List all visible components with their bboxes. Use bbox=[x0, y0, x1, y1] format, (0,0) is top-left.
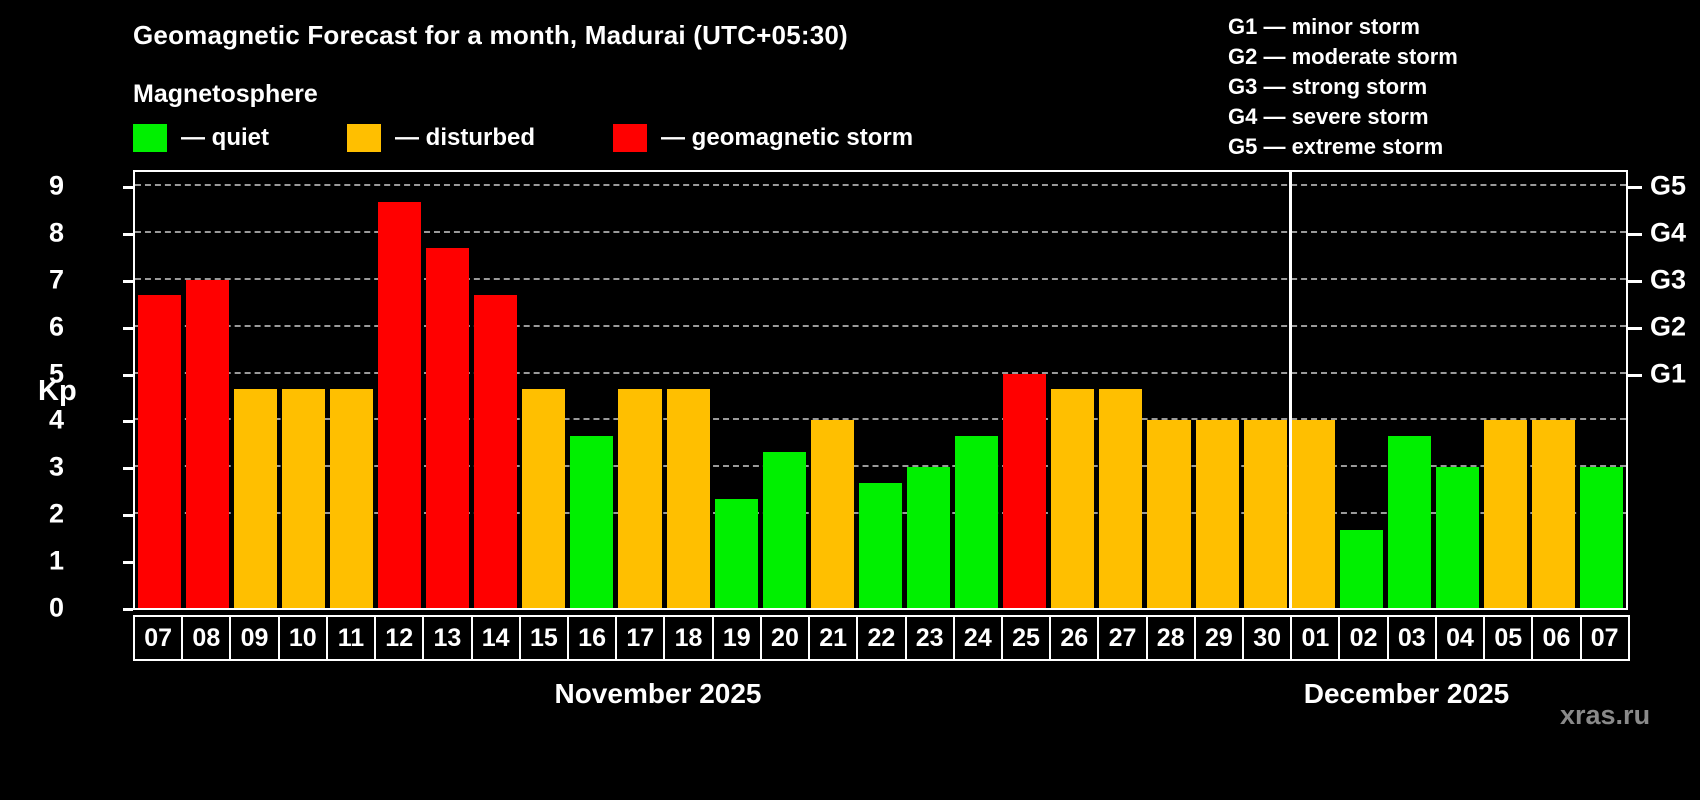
bar[interactable] bbox=[378, 202, 421, 608]
y-tick-mark-1 bbox=[123, 561, 133, 564]
y-tick-3: 3 bbox=[24, 452, 64, 483]
bar-cell-08[interactable] bbox=[183, 172, 231, 608]
bar-cell-22[interactable] bbox=[856, 172, 904, 608]
day-label-text: 18 bbox=[675, 624, 703, 653]
bar[interactable] bbox=[1051, 389, 1094, 608]
y-tick-mark-4 bbox=[123, 420, 133, 423]
watermark: xras.ru bbox=[1560, 700, 1650, 731]
y-tick-6: 6 bbox=[24, 311, 64, 342]
day-label-12[interactable]: 12 bbox=[374, 615, 424, 661]
day-label-26[interactable]: 26 bbox=[1049, 615, 1099, 661]
day-label-text: 14 bbox=[482, 624, 510, 653]
bar[interactable] bbox=[522, 389, 565, 608]
day-label-text: 06 bbox=[1543, 624, 1571, 653]
bar[interactable] bbox=[907, 467, 950, 608]
g-tick-G2: G2 bbox=[1650, 311, 1686, 342]
bar-cell-30[interactable] bbox=[1241, 172, 1289, 608]
day-label-07[interactable]: 07 bbox=[133, 615, 183, 661]
day-labels-row: 0708091011121314151617181920212223242526… bbox=[133, 615, 1628, 661]
bar[interactable] bbox=[811, 420, 854, 608]
legend-swatch-disturbed bbox=[347, 124, 381, 152]
y-tick-5: 5 bbox=[24, 358, 64, 389]
bar[interactable] bbox=[330, 389, 373, 608]
day-label-07[interactable]: 07 bbox=[1580, 615, 1630, 661]
day-label-16[interactable]: 16 bbox=[567, 615, 617, 661]
g-legend-row-4: G4 — severe storm bbox=[1228, 102, 1458, 132]
y-tick-mark-5 bbox=[123, 374, 133, 377]
day-label-text: 03 bbox=[1398, 624, 1426, 653]
page-title: Geomagnetic Forecast for a month, Madura… bbox=[133, 20, 848, 51]
bar[interactable] bbox=[955, 436, 998, 608]
bar-cell-25[interactable] bbox=[1001, 172, 1049, 608]
g-tick-mark-G3 bbox=[1628, 280, 1642, 283]
day-label-11[interactable]: 11 bbox=[326, 615, 376, 661]
bar-cell-24[interactable] bbox=[953, 172, 1001, 608]
day-label-text: 21 bbox=[819, 624, 847, 653]
y-tick-7: 7 bbox=[24, 264, 64, 295]
y-tick-8: 8 bbox=[24, 217, 64, 248]
day-label-text: 10 bbox=[289, 624, 317, 653]
g-tick-mark-G2 bbox=[1628, 327, 1642, 330]
bar[interactable] bbox=[1244, 420, 1287, 608]
bar-cell-03[interactable] bbox=[1385, 172, 1433, 608]
day-label-text: 29 bbox=[1205, 624, 1233, 653]
bar-cell-06[interactable] bbox=[1530, 172, 1578, 608]
g-tick-mark-G4 bbox=[1628, 233, 1642, 236]
day-label-20[interactable]: 20 bbox=[760, 615, 810, 661]
legend-label-quiet: — quiet bbox=[181, 124, 269, 152]
bar-cell-05[interactable] bbox=[1482, 172, 1530, 608]
bar[interactable] bbox=[474, 295, 517, 608]
chart-plot-area bbox=[133, 170, 1628, 610]
day-label-text: 05 bbox=[1494, 624, 1522, 653]
day-label-text: 23 bbox=[916, 624, 944, 653]
bar[interactable] bbox=[138, 295, 181, 608]
bar[interactable] bbox=[1532, 420, 1575, 608]
day-label-09[interactable]: 09 bbox=[229, 615, 279, 661]
day-label-text: 12 bbox=[385, 624, 413, 653]
day-label-29[interactable]: 29 bbox=[1194, 615, 1244, 661]
day-label-17[interactable]: 17 bbox=[615, 615, 665, 661]
bar[interactable] bbox=[186, 280, 229, 608]
bar[interactable] bbox=[763, 452, 806, 608]
bar-cell-13[interactable] bbox=[424, 172, 472, 608]
bar[interactable] bbox=[282, 389, 325, 608]
bar-cell-02[interactable] bbox=[1337, 172, 1385, 608]
day-label-24[interactable]: 24 bbox=[953, 615, 1003, 661]
day-label-27[interactable]: 27 bbox=[1097, 615, 1147, 661]
bar-cell-23[interactable] bbox=[905, 172, 953, 608]
day-label-21[interactable]: 21 bbox=[808, 615, 858, 661]
legend-item-disturbed: — disturbed bbox=[347, 124, 535, 152]
bar[interactable] bbox=[1388, 436, 1431, 608]
bar[interactable] bbox=[1484, 420, 1527, 608]
y-tick-mark-3 bbox=[123, 467, 133, 470]
day-label-text: 30 bbox=[1253, 624, 1281, 653]
y-tick-mark-8 bbox=[123, 233, 133, 236]
bar-cell-11[interactable] bbox=[327, 172, 375, 608]
day-label-01[interactable]: 01 bbox=[1290, 615, 1340, 661]
bar[interactable] bbox=[1003, 374, 1046, 608]
bar[interactable] bbox=[1340, 530, 1383, 608]
bar-cell-28[interactable] bbox=[1145, 172, 1193, 608]
day-label-22[interactable]: 22 bbox=[856, 615, 906, 661]
bar-cell-10[interactable] bbox=[279, 172, 327, 608]
bar[interactable] bbox=[1292, 420, 1335, 608]
bar[interactable] bbox=[1099, 389, 1142, 608]
y-tick-mark-6 bbox=[123, 327, 133, 330]
bar-cell-07[interactable] bbox=[135, 172, 183, 608]
bar-cell-21[interactable] bbox=[808, 172, 856, 608]
bar-cell-12[interactable] bbox=[375, 172, 423, 608]
day-label-10[interactable]: 10 bbox=[278, 615, 328, 661]
day-label-15[interactable]: 15 bbox=[519, 615, 569, 661]
bar-cell-15[interactable] bbox=[520, 172, 568, 608]
legend-label-disturbed: — disturbed bbox=[395, 124, 535, 152]
day-label-text: 20 bbox=[771, 624, 799, 653]
month-divider-line bbox=[1289, 172, 1292, 608]
bar[interactable] bbox=[570, 436, 613, 608]
bar-series bbox=[135, 172, 1626, 608]
g-tick-G1: G1 bbox=[1650, 358, 1686, 389]
day-label-text: 07 bbox=[1591, 624, 1619, 653]
day-label-23[interactable]: 23 bbox=[905, 615, 955, 661]
day-label-text: 15 bbox=[530, 624, 558, 653]
bar[interactable] bbox=[1580, 467, 1623, 608]
y-tick-4: 4 bbox=[24, 405, 64, 436]
day-label-19[interactable]: 19 bbox=[712, 615, 762, 661]
bar[interactable] bbox=[667, 389, 710, 608]
day-label-text: 04 bbox=[1446, 624, 1474, 653]
day-label-25[interactable]: 25 bbox=[1001, 615, 1051, 661]
day-label-06[interactable]: 06 bbox=[1531, 615, 1581, 661]
day-label-text: 25 bbox=[1012, 624, 1040, 653]
g-legend-row-1: G1 — minor storm bbox=[1228, 12, 1458, 42]
day-label-text: 08 bbox=[192, 624, 220, 653]
day-label-text: 16 bbox=[578, 624, 606, 653]
bar-cell-09[interactable] bbox=[231, 172, 279, 608]
day-label-text: 28 bbox=[1157, 624, 1185, 653]
bar-cell-07[interactable] bbox=[1578, 172, 1626, 608]
bar[interactable] bbox=[618, 389, 661, 608]
legend-swatch-quiet bbox=[133, 124, 167, 152]
day-label-02[interactable]: 02 bbox=[1338, 615, 1388, 661]
g-tick-G3: G3 bbox=[1650, 264, 1686, 295]
day-label-text: 26 bbox=[1060, 624, 1088, 653]
magnetosphere-legend: — quiet— disturbed— geomagnetic storm bbox=[133, 124, 991, 152]
bar[interactable] bbox=[1436, 467, 1479, 608]
month-label-first: November 2025 bbox=[133, 678, 1183, 710]
y-tick-2: 2 bbox=[24, 499, 64, 530]
day-label-30[interactable]: 30 bbox=[1242, 615, 1292, 661]
day-label-text: 11 bbox=[338, 624, 364, 653]
day-label-text: 13 bbox=[434, 624, 462, 653]
legend-item-quiet: — quiet bbox=[133, 124, 269, 152]
bar[interactable] bbox=[1196, 420, 1239, 608]
y-tick-9: 9 bbox=[24, 171, 64, 202]
magnetosphere-label: Magnetosphere bbox=[133, 80, 318, 109]
day-label-13[interactable]: 13 bbox=[422, 615, 472, 661]
day-label-text: 22 bbox=[867, 624, 895, 653]
day-label-text: 24 bbox=[964, 624, 992, 653]
g-tick-mark-G1 bbox=[1628, 374, 1642, 377]
g-legend-row-3: G3 — strong storm bbox=[1228, 72, 1458, 102]
y-tick-1: 1 bbox=[24, 546, 64, 577]
bar-cell-17[interactable] bbox=[616, 172, 664, 608]
day-label-text: 07 bbox=[144, 624, 172, 653]
legend-swatch-storm bbox=[613, 124, 647, 152]
day-label-03[interactable]: 03 bbox=[1387, 615, 1437, 661]
y-tick-mark-0 bbox=[123, 608, 133, 611]
day-label-text: 09 bbox=[241, 624, 269, 653]
bar[interactable] bbox=[859, 483, 902, 608]
day-label-05[interactable]: 05 bbox=[1483, 615, 1533, 661]
g-tick-G4: G4 bbox=[1650, 217, 1686, 248]
legend-item-storm: — geomagnetic storm bbox=[613, 124, 913, 152]
day-label-04[interactable]: 04 bbox=[1435, 615, 1485, 661]
g-tick-mark-G5 bbox=[1628, 186, 1642, 189]
y-tick-mark-2 bbox=[123, 514, 133, 517]
bar-cell-19[interactable] bbox=[712, 172, 760, 608]
bar-cell-27[interactable] bbox=[1097, 172, 1145, 608]
legend-label-storm: — geomagnetic storm bbox=[661, 124, 913, 152]
y-tick-0: 0 bbox=[24, 593, 64, 624]
bar[interactable] bbox=[715, 499, 758, 608]
bar-cell-29[interactable] bbox=[1193, 172, 1241, 608]
g-tick-G5: G5 bbox=[1650, 171, 1686, 202]
bar-cell-14[interactable] bbox=[472, 172, 520, 608]
day-label-08[interactable]: 08 bbox=[181, 615, 231, 661]
g-legend-row-5: G5 — extreme storm bbox=[1228, 132, 1458, 162]
bar[interactable] bbox=[1147, 420, 1190, 608]
bar-cell-01[interactable] bbox=[1289, 172, 1337, 608]
bar-cell-26[interactable] bbox=[1049, 172, 1097, 608]
day-label-text: 17 bbox=[626, 624, 654, 653]
day-label-text: 01 bbox=[1301, 624, 1329, 653]
day-label-text: 02 bbox=[1350, 624, 1378, 653]
bar[interactable] bbox=[426, 248, 469, 608]
day-label-14[interactable]: 14 bbox=[471, 615, 521, 661]
bar-cell-20[interactable] bbox=[760, 172, 808, 608]
plot-inner bbox=[135, 172, 1626, 608]
bar-cell-18[interactable] bbox=[664, 172, 712, 608]
day-label-28[interactable]: 28 bbox=[1146, 615, 1196, 661]
y-tick-mark-9 bbox=[123, 186, 133, 189]
bar-cell-04[interactable] bbox=[1434, 172, 1482, 608]
day-label-18[interactable]: 18 bbox=[663, 615, 713, 661]
bar-cell-16[interactable] bbox=[568, 172, 616, 608]
g-scale-legend: G1 — minor stormG2 — moderate stormG3 — … bbox=[1228, 12, 1458, 162]
y-tick-mark-7 bbox=[123, 280, 133, 283]
day-label-text: 19 bbox=[723, 624, 751, 653]
bar[interactable] bbox=[234, 389, 277, 608]
day-label-text: 27 bbox=[1109, 624, 1137, 653]
g-legend-row-2: G2 — moderate storm bbox=[1228, 42, 1458, 72]
